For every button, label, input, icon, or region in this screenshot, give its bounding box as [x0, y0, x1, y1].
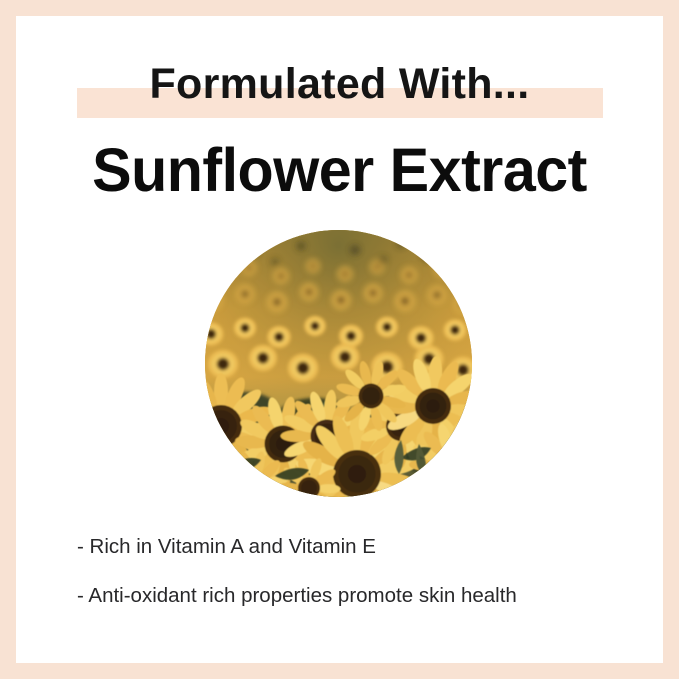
kicker-block: Formulated With...: [16, 56, 663, 122]
list-item: - Rich in Vitamin A and Vitamin E: [77, 534, 637, 560]
list-item: - Anti-oxidant rich properties promote s…: [77, 583, 637, 609]
sunflower-field-photo: [205, 230, 472, 497]
product-infographic-page: Formulated With... Sunflower Extract: [0, 0, 679, 679]
white-content-card: Formulated With... Sunflower Extract: [16, 16, 663, 663]
sunflower-photo-artwork: [205, 230, 472, 497]
benefits-list: - Rich in Vitamin A and Vitamin E - Anti…: [77, 534, 637, 609]
kicker-text: Formulated With...: [16, 56, 663, 112]
page-title: Sunflower Extract: [26, 133, 654, 207]
